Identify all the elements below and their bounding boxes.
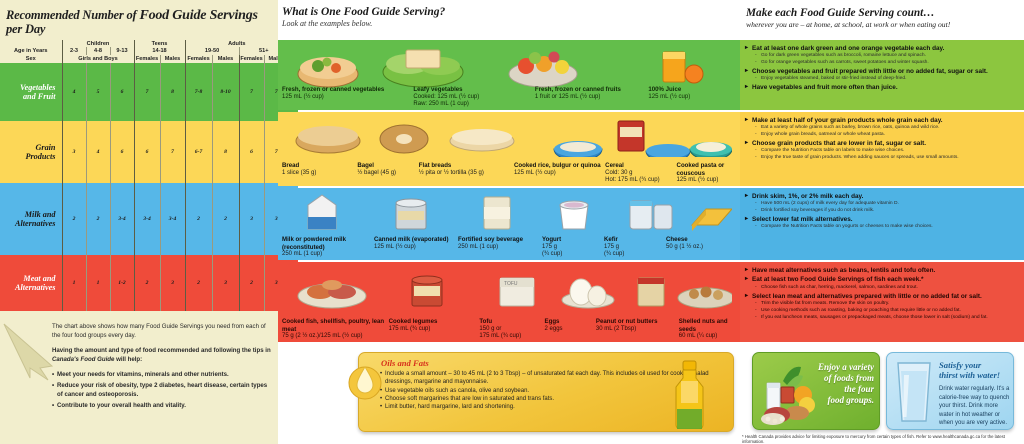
- table-row-milk-and-alternatives: Milk and Alternatives 2 2 3-4 3-4 3-4 2 …: [0, 183, 298, 255]
- group-header-teens: Teens: [134, 40, 185, 47]
- satisfy-thirst-title: Satisfy your thirst with water!: [939, 360, 1011, 380]
- table-row-grain-products: Grain Products 3 4 6 6 7 6-7 8 6 7: [0, 121, 298, 183]
- grain-products-illustration: [286, 115, 732, 157]
- serving-item-flat-breads: Flat breads ½ pita or ½ tortilla (35 g): [419, 162, 514, 184]
- tip-milk-1-sub-1: Have 500 mL (2 cups) of milk every day f…: [745, 201, 1018, 208]
- cell-ma-teen-m: 3-4: [160, 183, 185, 255]
- milk-and-alternatives-illustration: [288, 191, 732, 231]
- sex-adult2-females: Females: [239, 55, 264, 63]
- group-header-children: Children: [62, 40, 134, 47]
- serving-tips-header: Make each Food Guide Serving count… wher…: [740, 0, 1024, 32]
- cell-ma-a2-f: 3: [239, 183, 264, 255]
- serving-item-fresh-frozen-canned-fruits: Fresh, frozen or canned fruits 1 fruit o…: [535, 86, 649, 108]
- age-14-18: 14-18: [134, 47, 185, 55]
- cell-mt-a1-f: 2: [185, 255, 212, 311]
- meat-and-alternatives-items: Cooked fish, shellfish, poultry, lean me…: [282, 318, 738, 340]
- cell-vf-teen-f: 7: [134, 63, 160, 121]
- examples-row-vegetables-and-fruit: Fresh, frozen or canned vegetables 125 m…: [278, 40, 740, 110]
- tip-milk-2-sub-1: Compare the Nutrition Facts table on yog…: [745, 224, 1018, 231]
- serving-item-leafy-vegetables: Leafy vegetables Cooked: 125 mL (½ cup) …: [413, 86, 534, 108]
- cell-ma-a1-f: 2: [185, 183, 212, 255]
- tip-grain-1-sub-2: Enjoy whole grain breads, oatmeal or who…: [745, 132, 1018, 139]
- tip-grain-1: Make at least half of your grain product…: [745, 117, 1018, 125]
- cell-gp-teen-m: 7: [160, 121, 185, 183]
- sex-teen-males: Males: [160, 55, 185, 63]
- tip-grain-2: Choose grain products that are lower in …: [745, 140, 1018, 148]
- tip-veg-1-sub-2: Go for orange vegetables such as carrots…: [745, 60, 1018, 67]
- tip-meat-3: Select lean meat and alternatives prepar…: [745, 293, 1018, 301]
- note-paragraph-1: The chart above shows how many Food Guid…: [52, 322, 274, 340]
- meat-and-alternatives-illustration: TOFU: [288, 266, 732, 310]
- tip-meat-2: Eat at least two Food Guide Servings of …: [745, 276, 1018, 284]
- serving-tips-subheading: wherever you are – at home, at school, a…: [746, 20, 1020, 29]
- serving-examples-header: What is One Food Guide Serving? Look at …: [278, 0, 740, 31]
- serving-item-cereal: Cereal Cold: 30 g Hot: 175 mL (¾ cup): [605, 162, 676, 184]
- table-sex-row: Sex Girls and Boys Females Males Females…: [0, 55, 298, 63]
- page-title: Recommended Number of Food Guide Serving…: [0, 0, 278, 40]
- tip-meat-1: Have meat alternatives such as beans, le…: [745, 267, 1018, 275]
- age-19-50: 19-50: [185, 47, 239, 55]
- cell-vf-a1-m: 8-10: [212, 63, 239, 121]
- satisfy-thirst-panel: Satisfy your thirst with water! Drink wa…: [886, 352, 1014, 430]
- vegetables-and-fruit-items: Fresh, frozen or canned vegetables 125 m…: [282, 86, 738, 108]
- serving-item-cheese: Cheese 50 g (1 ½ oz.): [666, 236, 728, 258]
- tip-milk-1-sub-2: Drink fortified soy beverages if you do …: [745, 208, 1018, 215]
- tips-block-meat-and-alternatives: Have meat alternatives such as beans, le…: [740, 262, 1024, 342]
- tip-grain-2-sub-2: Enjoy the true taste of grain products. …: [745, 155, 1018, 162]
- cell-vf-a2-f: 7: [239, 63, 264, 121]
- serving-tips-heading: Make each Food Guide Serving count…: [746, 7, 1020, 20]
- table-row-meat-and-alternatives: Meat and Alternatives 1 1 1-2 2 3 2 3 2 …: [0, 255, 298, 311]
- cell-mt-a2-f: 2: [239, 255, 264, 311]
- cell-gp-2-3: 3: [62, 121, 86, 183]
- tip-meat-2-sub-1: Choose fish such as char, herring, macke…: [745, 285, 1018, 292]
- tip-veg-2-sub-1: Enjoy vegetables steamed, baked or stir-…: [745, 76, 1018, 83]
- serving-item-peanut-or-nut-butters: Peanut or nut butters 30 mL (2 Tbsp): [596, 318, 679, 340]
- cell-mt-9-13: 1-2: [110, 255, 134, 311]
- vegetables-and-fruit-illustration: [288, 44, 728, 88]
- age-2-3: 2-3: [62, 47, 86, 55]
- serving-item-yogurt: Yogurt 175 g (¾ cup): [542, 236, 604, 258]
- servings-table-panel: Recommended Number of Food Guide Serving…: [0, 0, 278, 444]
- tip-veg-1-sub-1: Go for dark green vegetables such as bro…: [745, 53, 1018, 60]
- page-title-part3: per Day: [6, 22, 45, 36]
- row-label-vegetables-and-fruit: Vegetables and Fruit: [0, 63, 62, 121]
- note-bullet-1: Meet your needs for vitamins, minerals a…: [52, 370, 274, 379]
- cell-gp-4-8: 4: [86, 121, 110, 183]
- examples-row-grain-products: Bread 1 slice (35 g) Bagel ½ bagel (45 g…: [278, 112, 740, 186]
- serving-item-tofu: Tofu 150 g or 175 mL (¾ cup): [479, 318, 544, 340]
- arrow-icon: [0, 322, 56, 382]
- cell-mt-a1-m: 3: [212, 255, 239, 311]
- note-bullet-list: Meet your needs for vitamins, minerals a…: [52, 370, 274, 410]
- age-9-13: 9-13: [110, 47, 134, 55]
- serving-item-cooked-pasta-couscous: Cooked pasta or couscous 125 mL (½ cup): [677, 162, 738, 184]
- cell-gp-a2-f: 6: [239, 121, 264, 183]
- mercury-footnote: * Health Canada provides advice for limi…: [742, 434, 1024, 444]
- serving-item-cooked-rice-bulgur-quinoa: Cooked rice, bulgur or quinoa 125 mL (½ …: [514, 162, 605, 184]
- serving-item-fortified-soy-beverage: Fortified soy beverage 250 mL (1 cup): [458, 236, 542, 258]
- age-4-8: 4-8: [86, 47, 110, 55]
- milk-and-alternatives-items: Milk or powdered milk (reconstituted) 25…: [282, 236, 738, 258]
- row-label-meat-and-alternatives: Meat and Alternatives: [0, 255, 62, 311]
- tip-meat-3-sub-3: If you eat luncheon meats, sausages or p…: [745, 315, 1018, 322]
- tip-veg-1: Eat at least one dark green and one oran…: [745, 45, 1018, 53]
- tips-block-grain-products: Make at least half of your grain product…: [740, 112, 1024, 186]
- tip-milk-1: Drink skim, 1%, or 2% milk each day.: [745, 193, 1018, 201]
- serving-item-cooked-legumes: Cooked legumes 175 mL (¾ cup): [389, 318, 480, 340]
- tips-block-vegetables-and-fruit: Eat at least one dark green and one oran…: [740, 40, 1024, 110]
- serving-item-milk-or-powdered-milk: Milk or powdered milk (reconstituted) 25…: [282, 236, 374, 258]
- cell-gp-a1-m: 8: [212, 121, 239, 183]
- cell-gp-teen-f: 6: [134, 121, 160, 183]
- serving-examples-heading: What is One Food Guide Serving?: [282, 6, 740, 19]
- serving-item-juice: 100% Juice 125 mL (½ cup): [648, 86, 738, 108]
- note-bullet-3: Contribute to your overall health and vi…: [52, 401, 274, 410]
- group-header-adults: Adults: [185, 40, 288, 47]
- svg-text:TOFU: TOFU: [504, 281, 518, 287]
- serving-item-bagel: Bagel ½ bagel (45 g): [357, 162, 418, 184]
- row-label-milk-and-alternatives: Milk and Alternatives: [0, 183, 62, 255]
- note-paragraph-2: Having the amount and type of food recom…: [52, 346, 274, 364]
- serving-item-canned-milk: Canned milk (evaporated) 125 mL (½ cup): [374, 236, 458, 258]
- oil-bottle-icon: [659, 359, 719, 429]
- servings-table: Children Teens Adults Age in Years 2-3 4…: [0, 40, 298, 311]
- food-guide-page: Recommended Number of Food Guide Serving…: [0, 0, 1024, 444]
- tip-meat-3-sub-2: Use cooking methods such as roasting, ba…: [745, 308, 1018, 315]
- enjoy-variety-panel: Enjoy a variety of foods from the four f…: [752, 352, 880, 430]
- examples-row-meat-and-alternatives: TOFU Cooked fish, shellfish, poultry, le…: [278, 262, 740, 342]
- sex-adult1-females: Females: [185, 55, 212, 63]
- tip-veg-2: Choose vegetables and fruit prepared wit…: [745, 68, 1018, 76]
- row-label-grain-products: Grain Products: [0, 121, 62, 183]
- tip-meat-3-sub-1: Trim the visible fat from meats. Remove …: [745, 301, 1018, 308]
- serving-item-kefir: Kefir 175 g (¾ cup): [604, 236, 666, 258]
- serving-item-shelled-nuts-and-seeds: Shelled nuts and seeds 60 mL (¼ cup): [679, 318, 738, 340]
- cell-ma-a1-m: 2: [212, 183, 239, 255]
- cell-ma-4-8: 2: [86, 183, 110, 255]
- serving-item-cooked-fish-shellfish-poultry-lean-meat: Cooked fish, shellfish, poultry, lean me…: [282, 318, 389, 340]
- page-title-part1: Recommended Number of: [6, 8, 139, 22]
- serving-examples-subheading: Look at the examples below.: [282, 19, 740, 28]
- cell-vf-a1-f: 7-8: [185, 63, 212, 121]
- cell-gp-9-13: 6: [110, 121, 134, 183]
- tips-block-milk-and-alternatives: Drink skim, 1%, or 2% milk each day. Hav…: [740, 188, 1024, 260]
- table-group-header-row: Children Teens Adults: [0, 40, 298, 47]
- cell-ma-9-13: 3-4: [110, 183, 134, 255]
- page-title-part2: Food Guide Servings: [139, 8, 257, 23]
- cell-mt-teen-f: 2: [134, 255, 160, 311]
- note-bullet-2: Reduce your risk of obesity, type 2 diab…: [52, 381, 274, 399]
- cell-mt-2-3: 1: [62, 255, 86, 311]
- tip-milk-2: Select lower fat milk alternatives.: [745, 216, 1018, 224]
- cell-mt-teen-m: 3: [160, 255, 185, 311]
- chart-explanation-note: The chart above shows how many Food Guid…: [52, 322, 274, 412]
- sex-girls-and-boys: Girls and Boys: [62, 55, 134, 63]
- examples-row-milk-and-alternatives: Milk or powdered milk (reconstituted) 25…: [278, 188, 740, 260]
- sex-adult1-males: Males: [212, 55, 239, 63]
- cell-vf-4-8: 5: [86, 63, 110, 121]
- cell-gp-a1-f: 6-7: [185, 121, 212, 183]
- label-age-in-years: Age in Years: [0, 47, 62, 55]
- serving-item-bread: Bread 1 slice (35 g): [282, 162, 357, 184]
- label-sex: Sex: [0, 55, 62, 63]
- table-row-vegetables-and-fruit: Vegetables and Fruit 4 5 6 7 8 7-8 8-10 …: [0, 63, 298, 121]
- water-glass-icon: [893, 361, 935, 423]
- serving-item-fresh-frozen-canned-vegetables: Fresh, frozen or canned vegetables 125 m…: [282, 86, 413, 108]
- sex-teen-females: Females: [134, 55, 160, 63]
- grain-products-items: Bread 1 slice (35 g) Bagel ½ bagel (45 g…: [282, 162, 738, 184]
- cell-vf-teen-m: 8: [160, 63, 185, 121]
- cell-ma-teen-f: 3-4: [134, 183, 160, 255]
- satisfy-thirst-body: Drink water regularly. It's a calorie-fr…: [939, 385, 1011, 428]
- tip-grain-2-sub-1: Compare the Nutrition Facts table on lab…: [745, 148, 1018, 155]
- cell-vf-9-13: 6: [110, 63, 134, 121]
- table-age-row: Age in Years 2-3 4-8 9-13 14-18 19-50 51…: [0, 47, 298, 55]
- tip-grain-1-sub-1: Eat a variety of whole grains such as ba…: [745, 125, 1018, 132]
- tip-veg-3: Have vegetables and fruit more often tha…: [745, 84, 1018, 92]
- serving-item-eggs: Eggs 2 eggs: [545, 318, 596, 340]
- oils-and-fats-panel: Oils and Fats Include a small amount – 3…: [358, 352, 734, 432]
- cell-mt-4-8: 1: [86, 255, 110, 311]
- cell-ma-2-3: 2: [62, 183, 86, 255]
- enjoy-variety-text: Enjoy a variety of foods from the four f…: [800, 362, 874, 406]
- cell-vf-2-3: 4: [62, 63, 86, 121]
